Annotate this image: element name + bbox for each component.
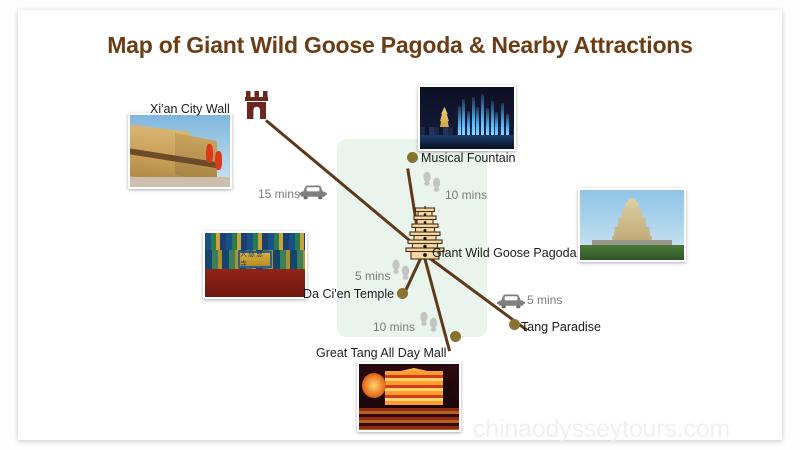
label-xian-city-wall[interactable]: Xi'an City Wall <box>150 102 230 116</box>
photo-da-cien-temple: 大慈恩寺 <box>203 231 307 299</box>
photo-giant-wild-goose-pagoda <box>578 188 686 262</box>
temple-plaque-text: 大慈恩寺 <box>240 253 270 266</box>
city-gate-icon <box>244 90 270 120</box>
map-dot-musical-fountain[interactable] <box>407 152 418 163</box>
travel-time-da-cien-temple: 5 mins <box>355 269 390 283</box>
map-card: Map of Giant Wild Goose Pagoda & Nearby … <box>18 10 782 440</box>
map-dot-great-tang-mall[interactable] <box>450 331 461 342</box>
travel-time-tang-paradise: 5 mins <box>527 293 562 307</box>
photo-musical-fountain <box>418 85 516 151</box>
map-dot-da-cien-temple[interactable] <box>397 288 408 299</box>
label-tang-paradise[interactable]: Tang Paradise <box>521 320 601 334</box>
label-giant-wild-goose-pagoda[interactable]: Giant Wild Goose Pagoda <box>432 246 577 260</box>
label-musical-fountain[interactable]: Musical Fountain <box>421 151 516 165</box>
watermark: chinaodysseytours.com <box>473 415 730 444</box>
car-icon-tang-paradise <box>497 291 525 309</box>
travel-time-city-wall: 15 mins <box>258 187 300 201</box>
footprints-icon-musical-fountain <box>421 170 445 196</box>
footprints-icon-great-tang-mall <box>418 310 442 336</box>
travel-time-great-tang-mall: 10 mins <box>373 320 415 334</box>
page-title: Map of Giant Wild Goose Pagoda & Nearby … <box>18 32 782 59</box>
car-icon-city-wall <box>299 182 327 200</box>
photo-great-tang-all-day-mall <box>357 362 461 432</box>
map-dot-tang-paradise[interactable] <box>509 319 520 330</box>
photo-xian-city-wall <box>128 113 232 189</box>
travel-time-musical-fountain: 10 mins <box>445 188 487 202</box>
label-great-tang-all-day-mall[interactable]: Great Tang All Day Mall <box>316 346 446 360</box>
label-da-cien-temple[interactable]: Da Ci'en Temple <box>303 287 394 301</box>
map-infographic: Map of Giant Wild Goose Pagoda & Nearby … <box>0 0 800 450</box>
footprints-icon-da-cien-temple <box>390 258 414 284</box>
